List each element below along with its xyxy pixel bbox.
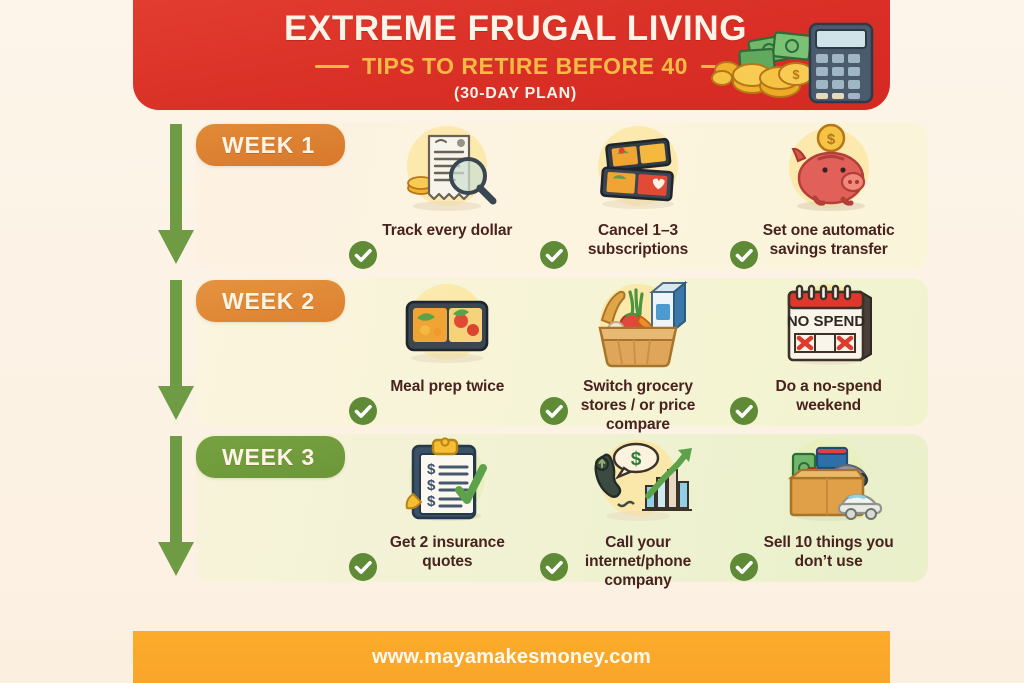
tip-card[interactable]: Sell 10 things you don’t use xyxy=(733,432,924,584)
down-arrow-icon xyxy=(155,124,199,266)
phone-savings-chart-icon: $ xyxy=(574,434,702,530)
week-badge-label: WEEK 1 xyxy=(222,132,315,159)
tip-card[interactable]: $ xyxy=(543,432,734,584)
check-circle-icon xyxy=(539,552,569,582)
grocery-bag-icon xyxy=(574,278,702,374)
infographic-canvas: EXTREME FRUGAL LIVING TIPS TO RETIRE BEF… xyxy=(0,0,1024,683)
box-of-items-icon xyxy=(765,434,893,530)
check-circle-icon xyxy=(348,240,378,270)
check-circle-icon xyxy=(348,552,378,582)
website-url[interactable]: www.mayamakesmoney.com xyxy=(372,646,651,669)
tip-label: Get 2 insurance quotes xyxy=(371,534,523,572)
week-items: $ $ $ xyxy=(352,432,924,584)
down-arrow-icon xyxy=(155,436,199,578)
week-badge: WEEK 1 xyxy=(196,124,345,166)
tip-card[interactable]: NO SPEND xyxy=(733,276,924,428)
week-badge-label: WEEK 3 xyxy=(222,444,315,471)
week-row: WEEK 3 $ $ xyxy=(0,430,1024,584)
tip-card[interactable]: Cancel 1–3 subscriptions xyxy=(543,120,734,272)
svg-text:$: $ xyxy=(631,449,642,470)
weeks-container: WEEK 1 xyxy=(0,118,1024,586)
tip-label: Call your internet/phone company xyxy=(562,534,714,591)
check-circle-icon xyxy=(729,552,759,582)
week-badge: WEEK 2 xyxy=(196,280,345,322)
svg-text:$: $ xyxy=(427,493,436,510)
tip-label: Meal prep twice xyxy=(371,378,523,397)
week-badge-label: WEEK 2 xyxy=(222,288,315,315)
down-arrow-icon xyxy=(155,280,199,422)
receipt-magnifier-icon xyxy=(383,122,511,218)
tip-label: Track every dollar xyxy=(371,222,523,241)
week-row: WEEK 2 xyxy=(0,274,1024,428)
svg-text:$: $ xyxy=(427,477,436,494)
clipboard-dollar-checklist-icon: $ $ $ xyxy=(383,434,511,530)
svg-text:NO SPEND: NO SPEND xyxy=(786,313,865,330)
piggy-bank-coin-icon: $ xyxy=(765,122,893,218)
svg-text:$: $ xyxy=(792,67,800,82)
tip-label: Switch grocery stores / or price compare xyxy=(562,378,714,435)
check-circle-icon xyxy=(729,396,759,426)
check-circle-icon xyxy=(348,396,378,426)
tip-card[interactable]: $ $ $ xyxy=(352,432,543,584)
money-calculator-icon: $ xyxy=(692,12,882,104)
check-circle-icon xyxy=(539,240,569,270)
week-items: Track every dollar xyxy=(352,120,924,272)
tip-card[interactable]: Track every dollar xyxy=(352,120,543,272)
svg-text:$: $ xyxy=(427,461,436,478)
left-dash-decoration xyxy=(315,65,349,68)
week-row: WEEK 1 xyxy=(0,118,1024,272)
tip-label: Set one automatic savings transfer xyxy=(753,222,905,260)
svg-text:$: $ xyxy=(827,131,836,148)
week-badge: WEEK 3 xyxy=(196,436,345,478)
bento-box-icon xyxy=(574,122,702,218)
tip-card[interactable]: $ xyxy=(733,120,924,272)
week-items: Meal prep twice xyxy=(352,276,924,428)
tip-label: Sell 10 things you don’t use xyxy=(753,534,905,572)
header-banner: EXTREME FRUGAL LIVING TIPS TO RETIRE BEF… xyxy=(133,0,890,110)
page-subtitle: TIPS TO RETIRE BEFORE 40 xyxy=(362,53,688,80)
tip-card[interactable]: Meal prep twice xyxy=(352,276,543,428)
tip-card[interactable]: Switch grocery stores / or price compare xyxy=(543,276,734,428)
footer-bar: www.mayamakesmoney.com xyxy=(133,631,890,683)
tip-label: Cancel 1–3 subscriptions xyxy=(562,222,714,260)
check-circle-icon xyxy=(729,240,759,270)
tip-label: Do a no-spend weekend xyxy=(753,378,905,416)
check-circle-icon xyxy=(539,396,569,426)
meal-prep-container-icon xyxy=(383,278,511,374)
no-spend-calendar-icon: NO SPEND xyxy=(765,278,893,374)
